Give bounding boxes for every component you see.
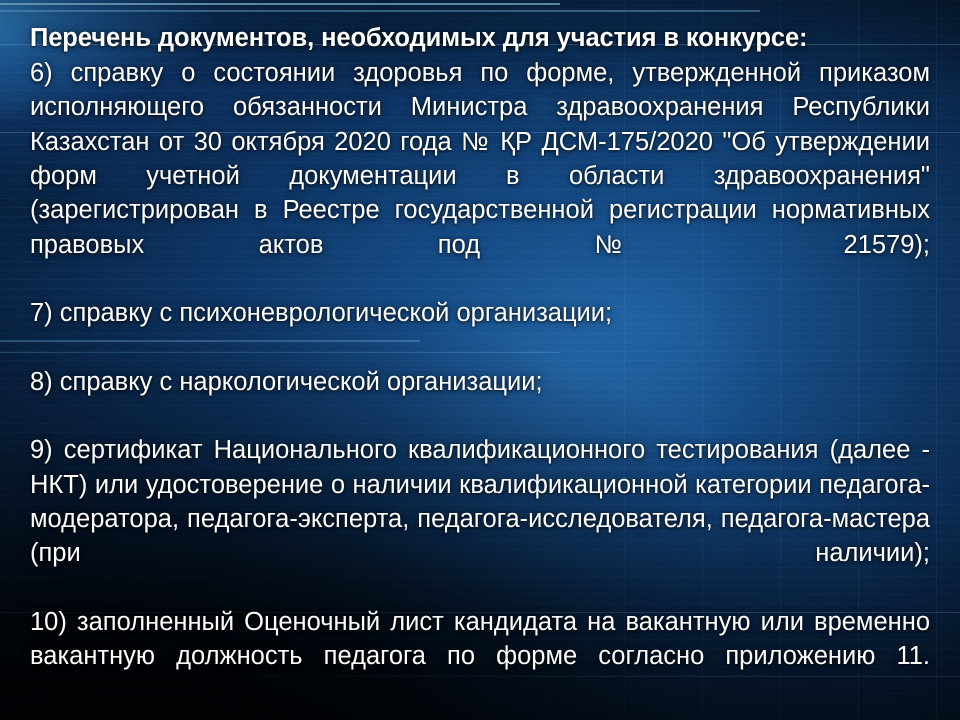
slide-title: Перечень документов, необходимых для уча…	[30, 22, 930, 55]
document-item-9: 9) сертификат Национального квалификацио…	[30, 433, 930, 604]
presentation-slide: Перечень документов, необходимых для уча…	[0, 0, 960, 720]
document-item-7: 7) справку с психоневрологической органи…	[30, 296, 930, 365]
document-item-8: 8) справку с наркологической организации…	[30, 365, 930, 434]
document-item-6: 6) справку о состоянии здоровья по форме…	[30, 56, 930, 296]
document-item-10: 10) заполненный Оценочный лист кандидата…	[30, 605, 930, 708]
slide-text-block: Перечень документов, необходимых для уча…	[30, 22, 930, 708]
